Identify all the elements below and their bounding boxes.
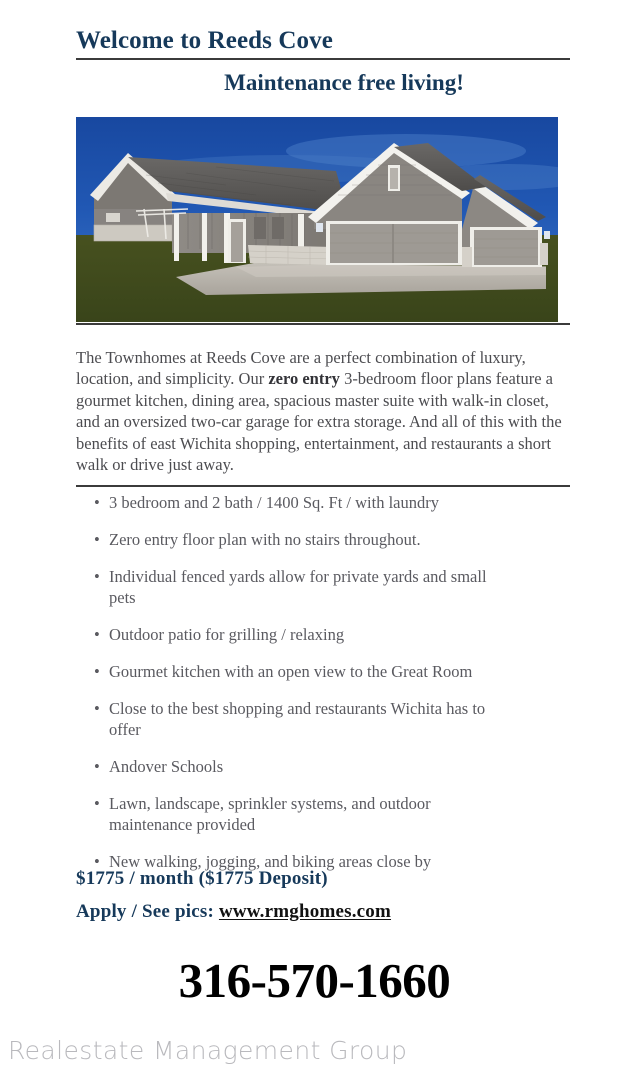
bullet-icon: • (94, 698, 100, 719)
list-item: • Lawn, landscape, sprinkler systems, an… (92, 793, 572, 835)
feature-text: Outdoor patio for grilling / relaxing (109, 624, 572, 645)
list-item: • Close to the best shopping and restaur… (92, 698, 572, 740)
apply-label: Apply / See pics: (76, 901, 219, 922)
website-link[interactable]: www.rmghomes.com (219, 901, 391, 922)
page-subtitle: Maintenance free living! (76, 60, 570, 95)
page-title: Welcome to Reeds Cove (76, 28, 570, 58)
bullet-icon: • (94, 793, 100, 814)
feature-text: Close to the best shopping and restauran… (109, 698, 572, 719)
bullet-icon: • (94, 756, 100, 777)
rent-price-line: $1775 / month ($1775 Deposit) (76, 868, 328, 890)
flyer-page: Welcome to Reeds Cove Maintenance free l… (0, 0, 629, 1080)
feature-text: Lawn, landscape, sprinkler systems, and … (109, 793, 572, 814)
intro-emphasis: zero entry (268, 369, 340, 388)
list-item: • Zero entry floor plan with no stairs t… (92, 529, 572, 550)
bullet-icon: • (94, 492, 100, 513)
list-item: • Gourmet kitchen with an open view to t… (92, 661, 572, 682)
house-rendering-svg (76, 117, 558, 322)
feature-text-continued: offer (109, 720, 141, 739)
feature-text: Gourmet kitchen with an open view to the… (109, 661, 572, 682)
paragraph-divider (76, 485, 570, 487)
company-watermark: Realestate Management Group (8, 1036, 407, 1065)
feature-text-continued: pets (109, 588, 136, 607)
list-item: • Andover Schools (92, 756, 572, 777)
feature-text: Zero entry floor plan with no stairs thr… (109, 529, 572, 550)
features-list: • 3 bedroom and 2 bath / 1400 Sq. Ft / w… (92, 492, 572, 888)
feature-text: Andover Schools (109, 756, 572, 777)
bullet-icon: • (94, 566, 100, 587)
intro-paragraph: The Townhomes at Reeds Cove are a perfec… (76, 347, 570, 477)
bullet-icon: • (94, 624, 100, 645)
property-rendering-image (76, 117, 558, 322)
feature-text: 3 bedroom and 2 bath / 1400 Sq. Ft / wit… (109, 492, 572, 513)
feature-text: Individual fenced yards allow for privat… (109, 566, 572, 587)
feature-text-continued: maintenance provided (109, 815, 255, 834)
hero-divider (76, 323, 570, 325)
phone-number[interactable]: 316-570-1660 (0, 952, 629, 1009)
bullet-icon: • (94, 529, 100, 550)
list-item: • Individual fenced yards allow for priv… (92, 566, 572, 608)
list-item: • 3 bedroom and 2 bath / 1400 Sq. Ft / w… (92, 492, 572, 513)
bullet-icon: • (94, 661, 100, 682)
list-item: • Outdoor patio for grilling / relaxing (92, 624, 572, 645)
apply-line: Apply / See pics: www.rmghomes.com (76, 901, 391, 923)
header-block: Welcome to Reeds Cove Maintenance free l… (76, 28, 570, 96)
